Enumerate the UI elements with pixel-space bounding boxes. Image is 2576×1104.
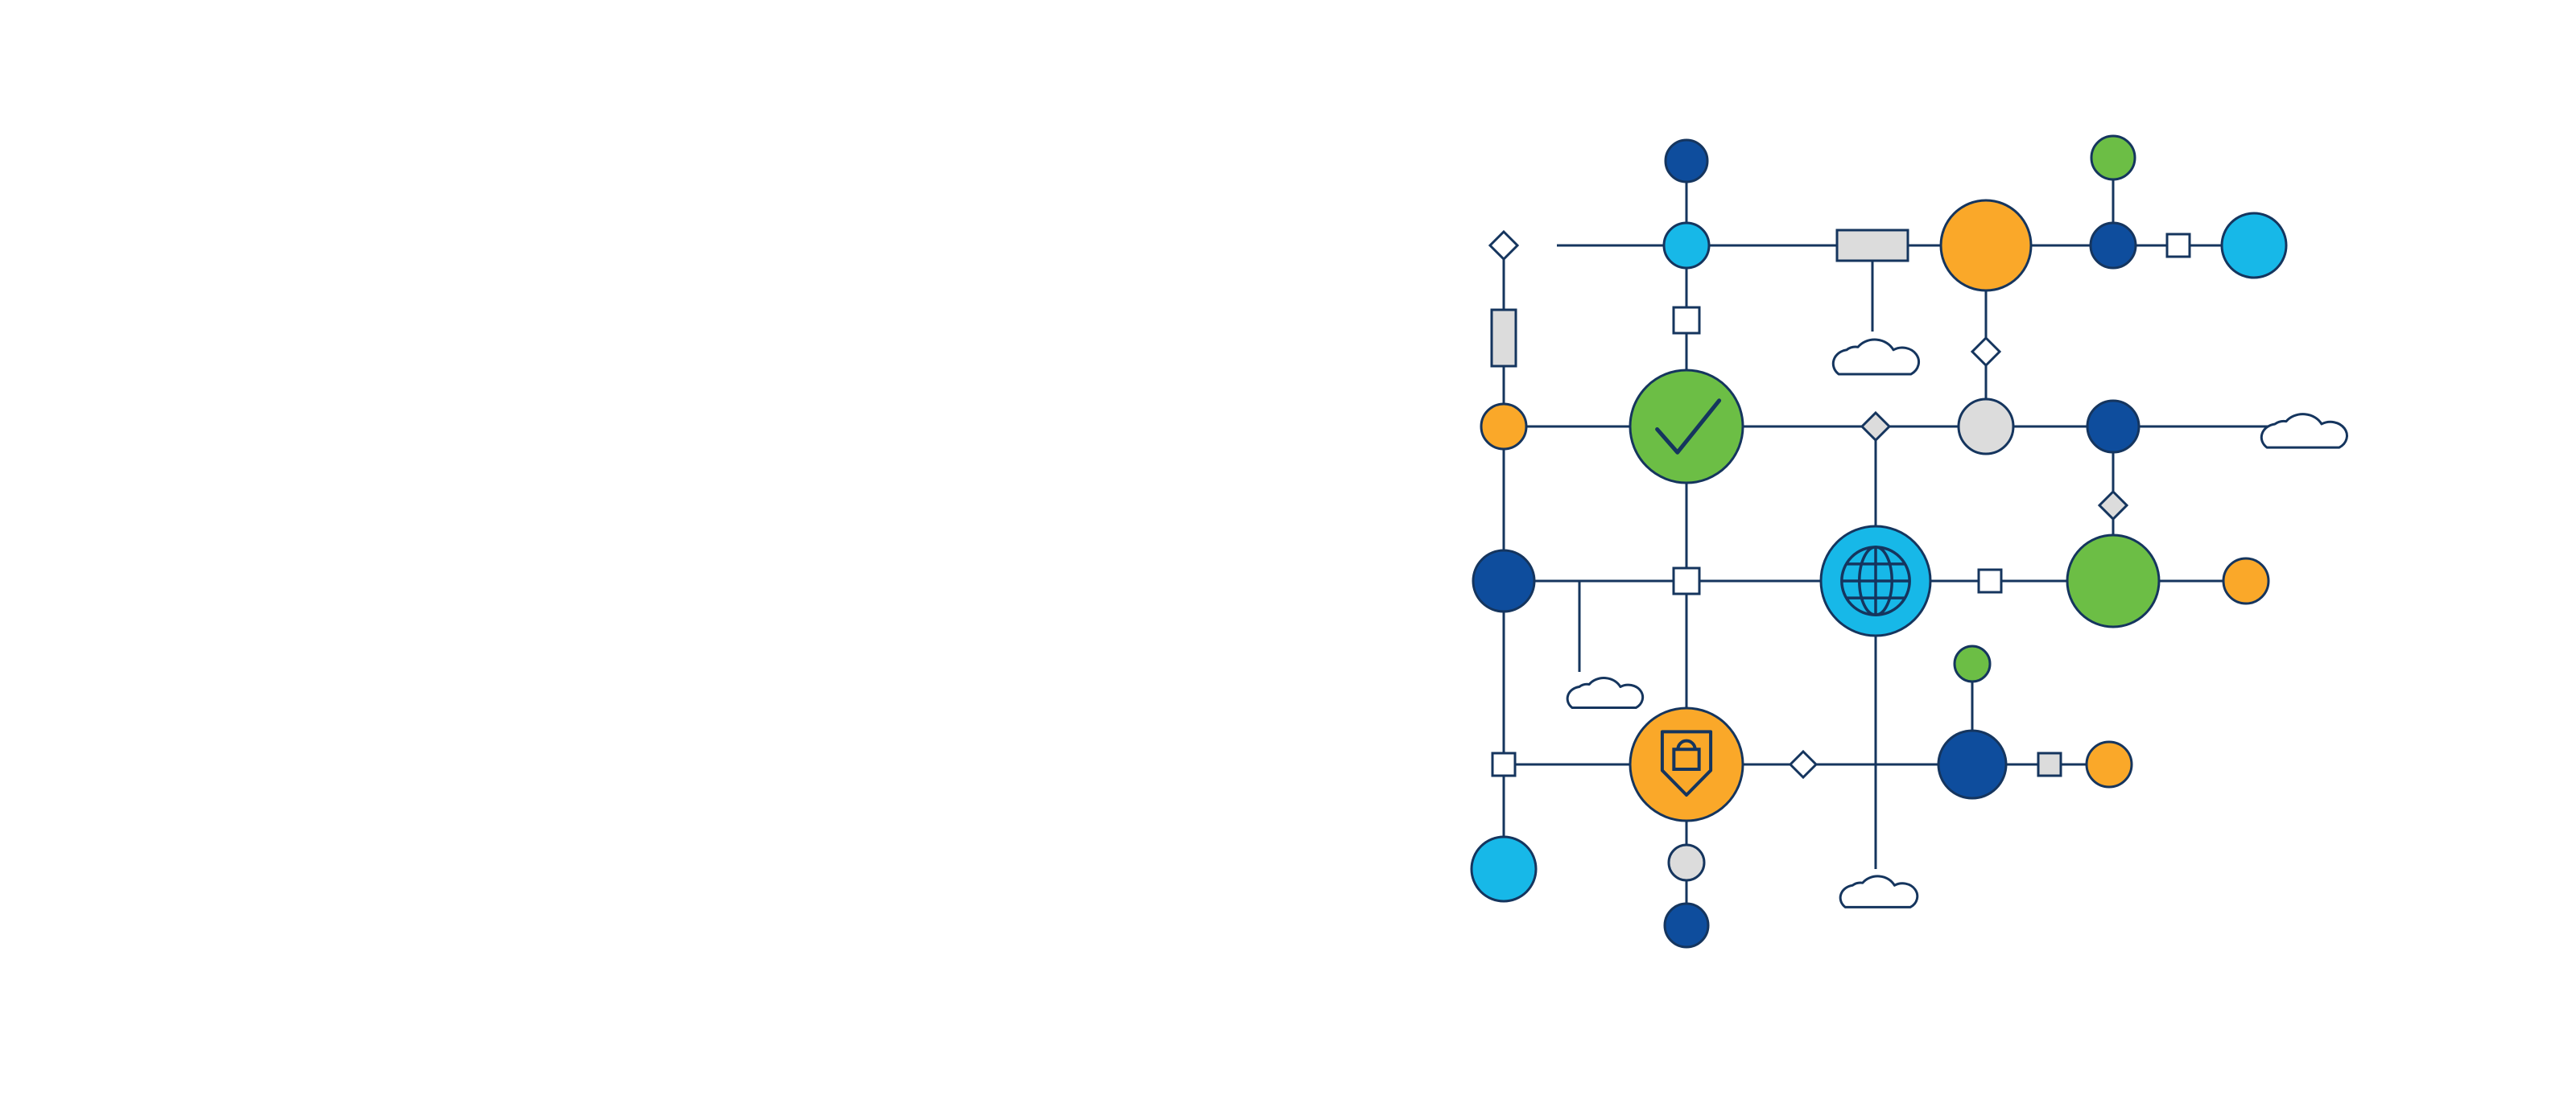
cloud-icon[interactable] bbox=[1833, 340, 1918, 374]
node-cloud-row2-right[interactable] bbox=[2261, 414, 2347, 447]
node-grey-rect-top[interactable] bbox=[1837, 230, 1908, 261]
node-diamond-grey-right-mid-shape[interactable] bbox=[2099, 492, 2127, 519]
node-diamond-grey-right-mid[interactable] bbox=[2099, 492, 2127, 519]
node-grey-bar-left[interactable] bbox=[1492, 310, 1516, 366]
node-grey-circle-row2[interactable] bbox=[1959, 399, 2013, 454]
node-orange-row3-end-shape[interactable] bbox=[2223, 558, 2268, 603]
node-green-small-row4-shape[interactable] bbox=[1955, 646, 1990, 682]
node-lock-orange-shape[interactable] bbox=[1630, 708, 1743, 821]
node-orange-row4-end-shape[interactable] bbox=[2087, 742, 2132, 787]
node-square-row3-center-shape[interactable] bbox=[1674, 568, 1699, 594]
node-orange-row3-end[interactable] bbox=[2223, 558, 2268, 603]
node-green-check-large[interactable] bbox=[1630, 370, 1743, 483]
node-grey-square-row4[interactable] bbox=[2038, 753, 2061, 776]
node-square-row3-center[interactable] bbox=[1674, 568, 1699, 594]
node-dark-blue-top-right[interactable] bbox=[2091, 223, 2136, 268]
node-square-row3-right-shape[interactable] bbox=[1979, 570, 2001, 592]
node-grey-square-row4-shape[interactable] bbox=[2038, 753, 2061, 776]
node-dark-blue-row2-right-shape[interactable] bbox=[2087, 401, 2139, 452]
cloud-icon[interactable] bbox=[2261, 414, 2347, 447]
node-grey-circle-row2-shape[interactable] bbox=[1959, 399, 2013, 454]
node-diamond-grey-row2-shape[interactable] bbox=[1862, 413, 1889, 440]
node-diamond-row4-shape[interactable] bbox=[1790, 752, 1816, 777]
node-orange-large-top[interactable] bbox=[1941, 200, 2031, 290]
node-cyan-hub-top-shape[interactable] bbox=[1664, 223, 1709, 268]
network-diagram bbox=[0, 0, 2576, 1104]
node-green-small-top-right-shape[interactable] bbox=[2091, 136, 2135, 179]
node-diamond-under-orange[interactable] bbox=[1972, 338, 2000, 365]
node-dark-blue-top[interactable] bbox=[1666, 140, 1707, 182]
node-grey-rect-top-shape[interactable] bbox=[1837, 230, 1908, 261]
node-green-large-row3-shape[interactable] bbox=[2067, 535, 2159, 627]
node-dark-blue-top-right-shape[interactable] bbox=[2091, 223, 2136, 268]
node-cyan-top-right-end[interactable] bbox=[2222, 213, 2286, 278]
node-square-left-row4-shape[interactable] bbox=[1492, 753, 1515, 776]
node-square-row3-right[interactable] bbox=[1979, 570, 2001, 592]
node-dark-blue-left-row3-shape[interactable] bbox=[1473, 550, 1534, 612]
node-grey-circle-bottom[interactable] bbox=[1669, 845, 1704, 880]
node-lock-orange[interactable] bbox=[1630, 708, 1743, 821]
globe-icon bbox=[1842, 547, 1909, 615]
node-orange-small-left-row2[interactable] bbox=[1481, 404, 1526, 449]
node-green-small-top-right[interactable] bbox=[2091, 136, 2135, 179]
node-cloud-row3-left[interactable] bbox=[1567, 678, 1642, 708]
node-square-under-cyan-shape[interactable] bbox=[1674, 307, 1699, 333]
node-square-top-right[interactable] bbox=[2167, 234, 2190, 257]
node-dark-blue-row4-shape[interactable] bbox=[1938, 731, 2006, 798]
node-grey-circle-bottom-shape[interactable] bbox=[1669, 845, 1704, 880]
node-cloud-top-center[interactable] bbox=[1833, 340, 1918, 374]
node-grey-bar-left-shape[interactable] bbox=[1492, 310, 1516, 366]
node-green-check-large-shape[interactable] bbox=[1630, 370, 1743, 483]
node-dark-blue-bottom[interactable] bbox=[1665, 904, 1708, 947]
node-green-large-row3[interactable] bbox=[2067, 535, 2159, 627]
node-dark-blue-top-shape[interactable] bbox=[1666, 140, 1707, 182]
node-diamond-left-top[interactable] bbox=[1490, 232, 1517, 259]
node-cyan-bottom-left[interactable] bbox=[1472, 837, 1536, 901]
node-square-top-right-shape[interactable] bbox=[2167, 234, 2190, 257]
node-square-under-cyan[interactable] bbox=[1674, 307, 1699, 333]
node-diamond-row4[interactable] bbox=[1790, 752, 1816, 777]
node-dark-blue-row2-right[interactable] bbox=[2087, 401, 2139, 452]
node-cyan-top-right-end-shape[interactable] bbox=[2222, 213, 2286, 278]
node-diamond-left-top-shape[interactable] bbox=[1490, 232, 1517, 259]
node-dark-blue-left-row3[interactable] bbox=[1473, 550, 1534, 612]
node-globe-cyan[interactable] bbox=[1821, 526, 1930, 636]
diagram-canvas bbox=[0, 0, 2576, 1104]
node-cloud-bottom-center[interactable] bbox=[1840, 876, 1918, 907]
node-square-left-row4[interactable] bbox=[1492, 753, 1515, 776]
node-orange-row4-end[interactable] bbox=[2087, 742, 2132, 787]
node-orange-small-left-row2-shape[interactable] bbox=[1481, 404, 1526, 449]
node-cyan-hub-top[interactable] bbox=[1664, 223, 1709, 268]
node-green-small-row4[interactable] bbox=[1955, 646, 1990, 682]
node-orange-large-top-shape[interactable] bbox=[1941, 200, 2031, 290]
nodes-layer bbox=[1472, 136, 2347, 947]
node-dark-blue-row4[interactable] bbox=[1938, 731, 2006, 798]
node-diamond-under-orange-shape[interactable] bbox=[1972, 338, 2000, 365]
node-cyan-bottom-left-shape[interactable] bbox=[1472, 837, 1536, 901]
node-dark-blue-bottom-shape[interactable] bbox=[1665, 904, 1708, 947]
cloud-icon[interactable] bbox=[1840, 876, 1918, 907]
cloud-icon[interactable] bbox=[1567, 678, 1642, 708]
node-diamond-grey-row2[interactable] bbox=[1862, 413, 1889, 440]
